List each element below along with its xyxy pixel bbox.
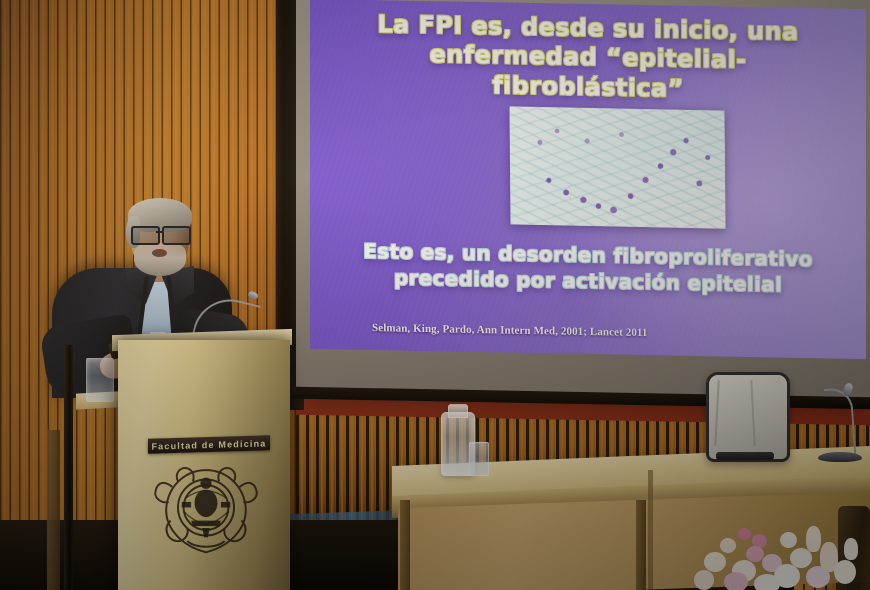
speaker-beard xyxy=(134,243,186,276)
eyeglass-lens-left xyxy=(131,226,160,245)
unam-coat-of-arms-icon xyxy=(150,455,262,560)
office-chair-base xyxy=(716,452,774,460)
slide-title-line-2: enfermedad “epitelial-fibroblástica” xyxy=(348,39,828,106)
flower-bloom xyxy=(754,574,780,590)
slide-citation: Selman, King, Pardo, Ann Intern Med, 200… xyxy=(372,322,648,339)
podium-vertical-post xyxy=(64,345,73,590)
table-microphone-base xyxy=(818,452,862,462)
table-leg-left xyxy=(400,500,410,590)
eyeglasses-icon xyxy=(130,226,192,242)
podium-plaque-text: Facultad de Medicina xyxy=(151,438,266,451)
flower-bloom xyxy=(844,538,858,560)
podium-water-glass xyxy=(86,358,114,402)
podium-side-panel xyxy=(47,430,60,590)
table-leg-mid xyxy=(636,500,646,590)
slide-title: La FPI es, desde su inicio, una enfermed… xyxy=(310,9,866,107)
flower-bloom xyxy=(704,552,726,572)
flower-bloom xyxy=(724,572,748,590)
speaker-mouth xyxy=(152,249,167,257)
flower-bloom xyxy=(694,570,714,590)
flower-bloom xyxy=(720,538,736,553)
lecture-hall-photo: La FPI es, desde su inicio, una enfermed… xyxy=(0,0,870,590)
flower-bloom xyxy=(834,560,856,584)
table-panel-seam xyxy=(648,470,653,590)
floor-shadow-left xyxy=(0,520,120,590)
flower-bloom xyxy=(746,546,764,562)
flower-arrangement xyxy=(694,520,870,590)
water-tumbler xyxy=(469,442,489,476)
histology-micrograph-image xyxy=(509,106,725,228)
flower-bloom xyxy=(738,528,751,540)
flower-bloom xyxy=(806,566,830,588)
floor-shadow-mid xyxy=(286,520,406,590)
eyeglass-lens-right xyxy=(162,226,191,245)
slide-subtitle: Esto es, un desorden fibroproliferativo … xyxy=(310,237,866,300)
flower-bloom xyxy=(780,532,797,548)
flower-bloom xyxy=(806,526,821,552)
presentation-slide: La FPI es, desde su inicio, una enfermed… xyxy=(310,0,866,359)
